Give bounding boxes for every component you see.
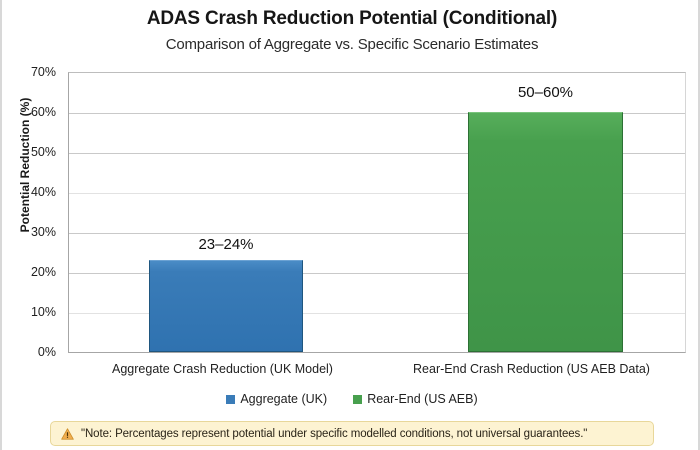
legend-swatch-blue-icon: [226, 395, 235, 404]
bar-label-rear-end-us-aeb: 50–60%: [468, 84, 623, 101]
note-text: "Note: Percentages represent potential u…: [81, 428, 587, 440]
chart-screenshot: ADAS Crash Reduction Potential (Conditio…: [0, 0, 700, 450]
warning-triangle-icon: [61, 428, 74, 440]
x-category-label-aggregate: Aggregate Crash Reduction (UK Model): [68, 362, 377, 376]
y-tick-label-0: 0%: [0, 345, 56, 359]
legend-label-rear-end: Rear-End (US AEB): [367, 392, 477, 406]
x-category-label-rear-end: Rear-End Crash Reduction (US AEB Data): [377, 362, 686, 376]
y-tick-label-60: 60%: [0, 105, 56, 119]
bar-label-aggregate-uk: 23–24%: [149, 236, 303, 253]
plot-area: 23–24% 50–60%: [68, 72, 686, 353]
legend-item-rear-end[interactable]: Rear-End (US AEB): [353, 392, 477, 406]
legend-item-aggregate[interactable]: Aggregate (UK): [226, 392, 327, 406]
y-tick-label-50: 50%: [0, 145, 56, 159]
y-tick-label-10: 10%: [0, 305, 56, 319]
chart-legend: Aggregate (UK) Rear-End (US AEB): [2, 392, 700, 406]
bar-rear-end-us-aeb[interactable]: [468, 112, 623, 352]
y-tick-label-70: 70%: [0, 65, 56, 79]
legend-swatch-green-icon: [353, 395, 362, 404]
y-tick-label-30: 30%: [0, 225, 56, 239]
y-tick-label-20: 20%: [0, 265, 56, 279]
chart-subtitle: Comparison of Aggregate vs. Specific Sce…: [2, 36, 700, 53]
legend-label-aggregate: Aggregate (UK): [240, 392, 327, 406]
chart-title: ADAS Crash Reduction Potential (Conditio…: [2, 8, 700, 30]
bar-aggregate-uk[interactable]: [149, 260, 303, 352]
note-banner: "Note: Percentages represent potential u…: [50, 421, 654, 446]
y-tick-label-40: 40%: [0, 185, 56, 199]
